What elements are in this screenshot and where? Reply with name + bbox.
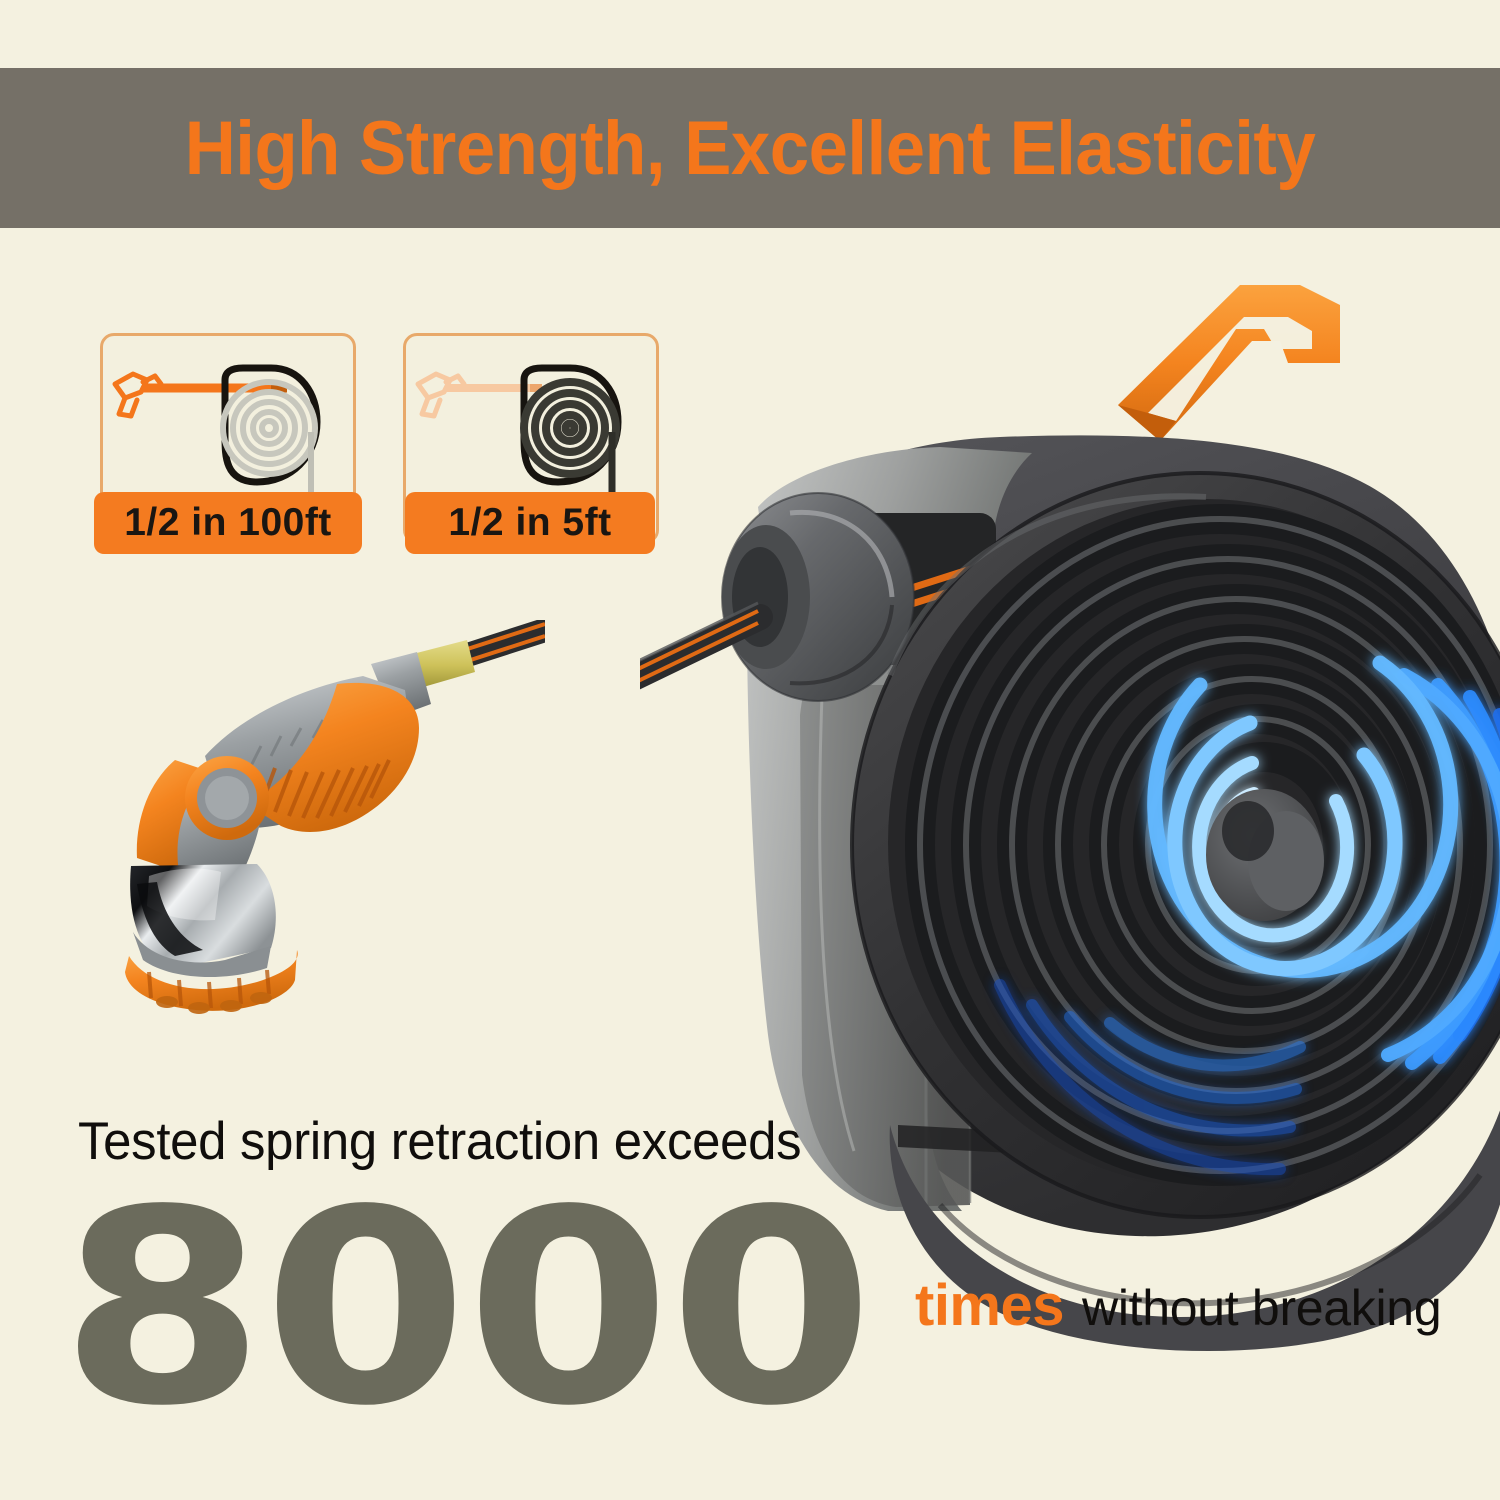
spray-nozzle-image (75, 620, 545, 1080)
spec-badge-retracted[interactable]: 1/2 in 5ft (403, 333, 659, 544)
spec-badge-extended-label: 1/2 in 100ft (94, 492, 362, 554)
claim-endline: timeswithout breaking (915, 1272, 1441, 1339)
product-hose-reel-image (640, 245, 1500, 1365)
hose-guide-knob (722, 493, 914, 701)
header-banner: High Strength, Excellent Elasticity (0, 68, 1500, 228)
claim-unit-word: times (915, 1273, 1064, 1338)
claim-suffix: without breaking (1082, 1280, 1441, 1336)
carry-handle (1118, 285, 1340, 441)
spec-badge-retracted-label: 1/2 in 5ft (405, 492, 655, 554)
spec-badge-group: 1/2 in 100ft (100, 333, 659, 544)
spec-badge-extended[interactable]: 1/2 in 100ft (100, 333, 356, 544)
page-title: High Strength, Excellent Elasticity (53, 68, 1448, 228)
infographic-canvas: High Strength, Excellent Elasticity (0, 0, 1500, 1500)
